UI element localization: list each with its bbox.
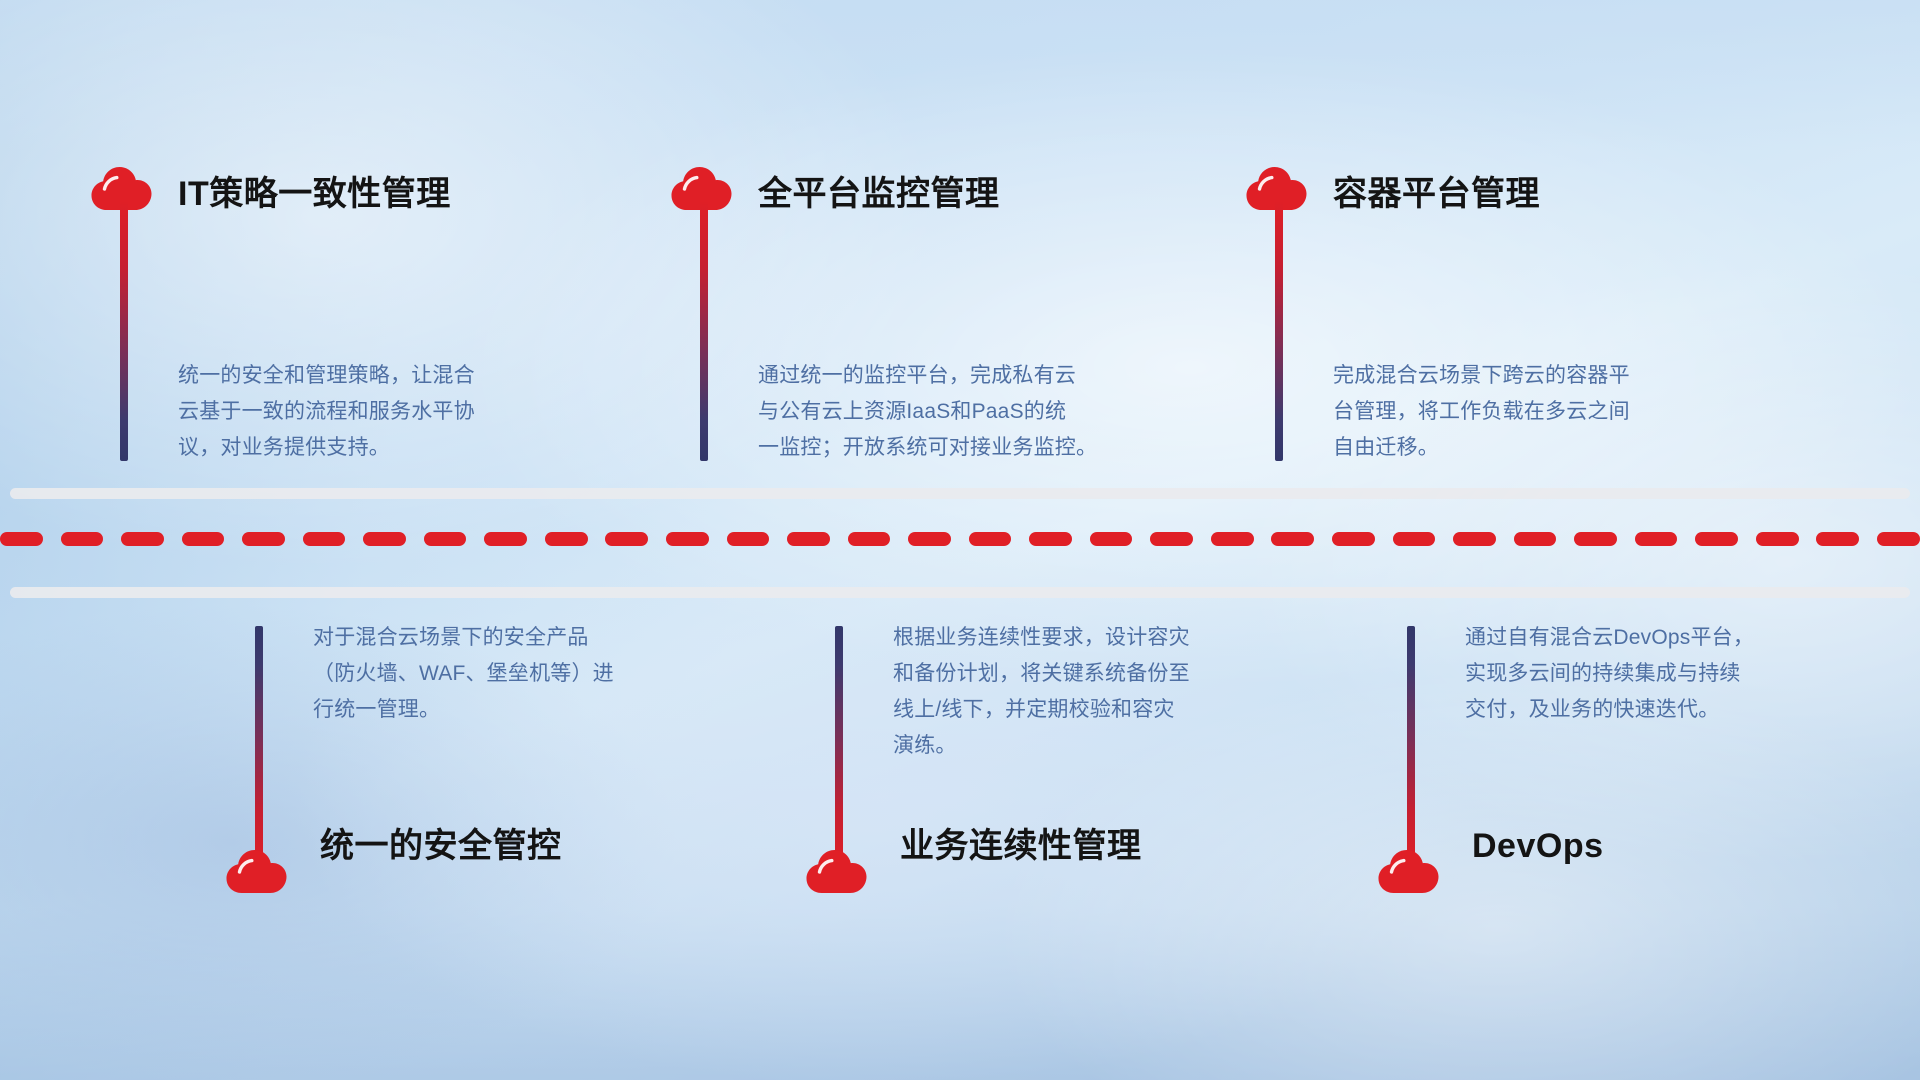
divider-dash (1635, 532, 1678, 546)
bottom-heading-1: 统一的安全管控 (320, 828, 562, 865)
divider-dash (1029, 532, 1072, 546)
top-connector-bar-1 (120, 201, 128, 461)
bottom-description-3: 通过自有混合云DevOps平台， 实现多云间的持续集成与持续 交付，及业务的快速… (1465, 620, 1885, 728)
divider-dash (1816, 532, 1859, 546)
divider-dash (1453, 532, 1496, 546)
top-heading-1: IT策略一致性管理 (178, 176, 451, 213)
divider-rail-top (10, 488, 1910, 499)
dashed-timeline-divider (0, 532, 1920, 546)
description-line: 通过自有混合云DevOps平台， (1465, 620, 1885, 656)
divider-group (0, 488, 1920, 598)
divider-dash (545, 532, 588, 546)
divider-dash (969, 532, 1012, 546)
description-line: 线上/线下，并定期校验和容灾 (893, 692, 1323, 728)
divider-dash (61, 532, 104, 546)
bottom-connector-bar-1 (255, 626, 263, 868)
description-line: 台管理，将工作负载在多云之间 (1333, 394, 1753, 430)
divider-dash (1574, 532, 1617, 546)
bottom-description-1: 对于混合云场景下的安全产品 （防火墙、WAF、堡垒机等）进 行统一管理。 (313, 620, 733, 728)
description-line: 统一的安全和管理策略，让混合 (178, 358, 618, 394)
cloud-icon (805, 848, 867, 894)
divider-dash (121, 532, 164, 546)
divider-dash (1695, 532, 1738, 546)
top-connector-bar-2 (700, 201, 708, 461)
infographic-canvas: IT策略一致性管理 统一的安全和管理策略，让混合 云基于一致的流程和服务水平协 … (0, 0, 1920, 1080)
divider-dash (1090, 532, 1133, 546)
description-line: 和备份计划，将关键系统备份至 (893, 656, 1323, 692)
bottom-connector-bar-3 (1407, 626, 1415, 868)
divider-dash (908, 532, 951, 546)
top-track: IT策略一致性管理 统一的安全和管理策略，让混合 云基于一致的流程和服务水平协 … (0, 0, 1920, 496)
divider-dash (1514, 532, 1557, 546)
bottom-connector-bar-2 (835, 626, 843, 868)
divider-dash (363, 532, 406, 546)
divider-dash (666, 532, 709, 546)
description-line: 交付，及业务的快速迭代。 (1465, 692, 1885, 728)
description-line: 对于混合云场景下的安全产品 (313, 620, 733, 656)
top-connector-bar-3 (1275, 201, 1283, 461)
description-line: 完成混合云场景下跨云的容器平 (1333, 358, 1753, 394)
top-description-2: 通过统一的监控平台，完成私有云 与公有云上资源IaaS和PaaS的统 一监控；开… (758, 358, 1208, 466)
divider-dash (848, 532, 891, 546)
description-line: 实现多云间的持续集成与持续 (1465, 656, 1885, 692)
divider-dash (787, 532, 830, 546)
divider-dash (1211, 532, 1254, 546)
divider-dash (303, 532, 346, 546)
divider-dash (424, 532, 467, 546)
description-line: 行统一管理。 (313, 692, 733, 728)
top-heading-3: 容器平台管理 (1333, 176, 1540, 213)
divider-dash (484, 532, 527, 546)
divider-dash (1756, 532, 1799, 546)
divider-dash (1271, 532, 1314, 546)
divider-dash (242, 532, 285, 546)
divider-dash (727, 532, 770, 546)
description-line: 一监控；开放系统可对接业务监控。 (758, 430, 1208, 466)
description-line: 议，对业务提供支持。 (178, 430, 618, 466)
description-line: 云基于一致的流程和服务水平协 (178, 394, 618, 430)
description-line: 通过统一的监控平台，完成私有云 (758, 358, 1208, 394)
divider-dash (182, 532, 225, 546)
bottom-heading-2: 业务连续性管理 (900, 828, 1142, 865)
divider-dash (1150, 532, 1193, 546)
description-line: 与公有云上资源IaaS和PaaS的统 (758, 394, 1208, 430)
divider-dash (1877, 532, 1920, 546)
top-description-1: 统一的安全和管理策略，让混合 云基于一致的流程和服务水平协 议，对业务提供支持。 (178, 358, 618, 466)
description-line: 自由迁移。 (1333, 430, 1753, 466)
cloud-icon (225, 848, 287, 894)
top-heading-2: 全平台监控管理 (758, 176, 1000, 213)
divider-dash (0, 532, 43, 546)
cloud-icon (1377, 848, 1439, 894)
divider-dash (605, 532, 648, 546)
description-line: （防火墙、WAF、堡垒机等）进 (313, 656, 733, 692)
top-description-3: 完成混合云场景下跨云的容器平 台管理，将工作负载在多云之间 自由迁移。 (1333, 358, 1753, 466)
bottom-heading-3: DevOps (1472, 828, 1604, 865)
divider-dash (1332, 532, 1375, 546)
description-line: 演练。 (893, 728, 1323, 764)
bottom-description-2: 根据业务连续性要求，设计容灾 和备份计划，将关键系统备份至 线上/线下，并定期校… (893, 620, 1323, 764)
description-line: 根据业务连续性要求，设计容灾 (893, 620, 1323, 656)
bottom-track: 对于混合云场景下的安全产品 （防火墙、WAF、堡垒机等）进 行统一管理。 统一的… (0, 596, 1920, 1080)
divider-dash (1393, 532, 1436, 546)
